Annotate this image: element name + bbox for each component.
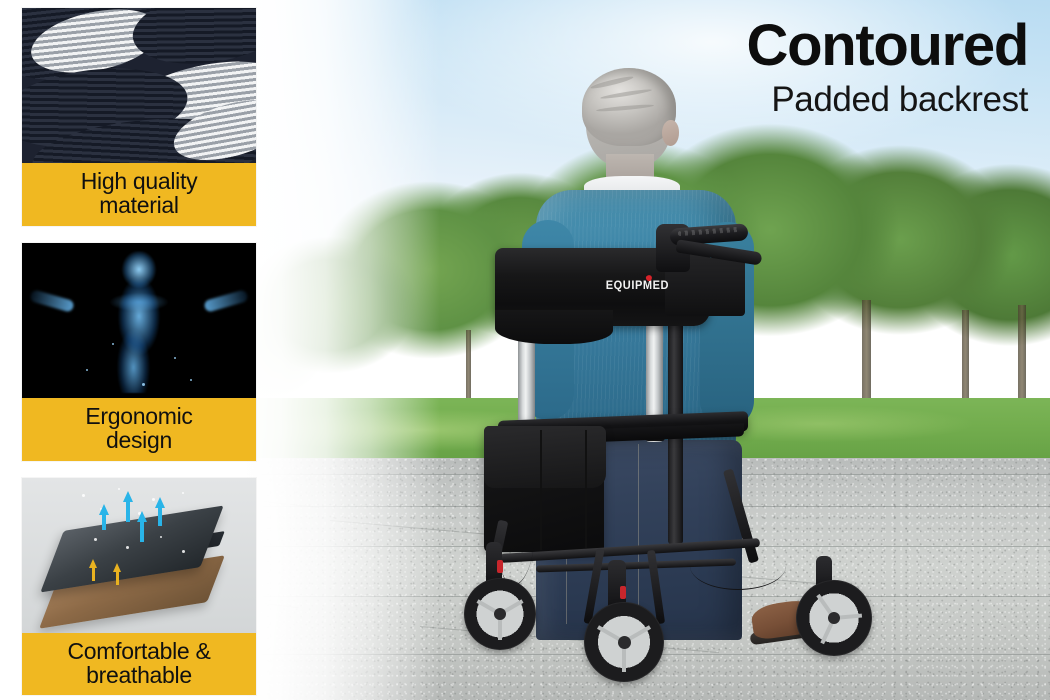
airflow-arrow-stem [126,502,130,522]
airflow-arrow-up [137,511,147,522]
person-ear [662,120,679,146]
wheel-hub [828,612,840,624]
headline-block: Contoured Padded backrest [747,16,1028,120]
water-droplet [118,488,120,490]
anatomy-arm-left [29,289,75,313]
glow-particle [190,379,192,381]
glow-particle [142,383,145,386]
feature-label-comfortable-breathable: Comfortable & breathable [22,633,256,696]
feature-image-layers [22,478,256,633]
wheel-hub [618,636,631,649]
airflow-arrow-stem [158,508,162,526]
wheel-hub [494,608,506,620]
feature-label-line1: Ergonomic [26,404,252,428]
cable-photo [22,8,256,163]
brake-cable [690,542,786,590]
feature-label-line1: Comfortable & [26,639,252,663]
moisture-arrow-up [113,563,121,572]
wheel-rear-right [796,580,872,656]
anatomy-photo [22,243,256,398]
layers-photo [22,478,256,633]
wheel-brake-indicator [620,586,626,599]
feature-label-line2: design [26,428,252,452]
wheel-front-center [584,602,664,682]
bag-strap [585,430,587,548]
glow-particle [112,343,114,345]
feature-image-anatomy [22,243,256,398]
moisture-arrow-stem [92,568,95,581]
feature-label-high-quality-material: High quality material [22,163,256,226]
water-droplet [82,494,85,497]
water-droplet [182,492,184,494]
feature-card-comfortable-breathable: Comfortable & breathable [22,478,256,696]
wheel-rear-left [464,578,536,650]
brand-logo: EQUIPMED [606,278,669,292]
glow-particle [174,357,176,359]
glow-particle [86,369,88,371]
feature-label-line1: High quality [26,169,252,193]
feature-card-ergonomic-design: Ergonomic design [22,243,256,461]
airflow-arrow-up [155,497,165,508]
airflow-arrow-stem [102,514,106,530]
airflow-arrow-stem [140,522,144,542]
moisture-arrow-stem [116,572,119,585]
moisture-arrow-up [89,559,97,568]
storage-bag-flap [484,426,606,488]
wheel-brake-indicator [497,560,503,573]
marketing-banner: EQUIPMED [0,0,1050,700]
anatomy-figure [93,251,185,393]
feature-label-line2: material [26,193,252,217]
feature-label-ergonomic-design: Ergonomic design [22,398,256,461]
feature-image-cables [22,8,256,163]
water-droplet [182,550,185,553]
page-subtitle: Padded backrest [747,79,1028,120]
feature-card-high-quality-material: High quality material [22,8,256,226]
anatomy-arm-right [203,289,249,313]
page-title: Contoured [747,16,1028,75]
feature-card-list: High quality material Ergonomic [22,8,256,700]
water-droplet [126,546,129,549]
water-droplet [94,538,97,541]
bag-strap [540,430,542,550]
rollator-walker: EQUIPMED [440,230,880,690]
feature-label-line2: breathable [26,663,252,687]
airflow-arrow-up [99,504,109,515]
airflow-arrow-up [123,491,133,502]
water-droplet [160,536,162,538]
